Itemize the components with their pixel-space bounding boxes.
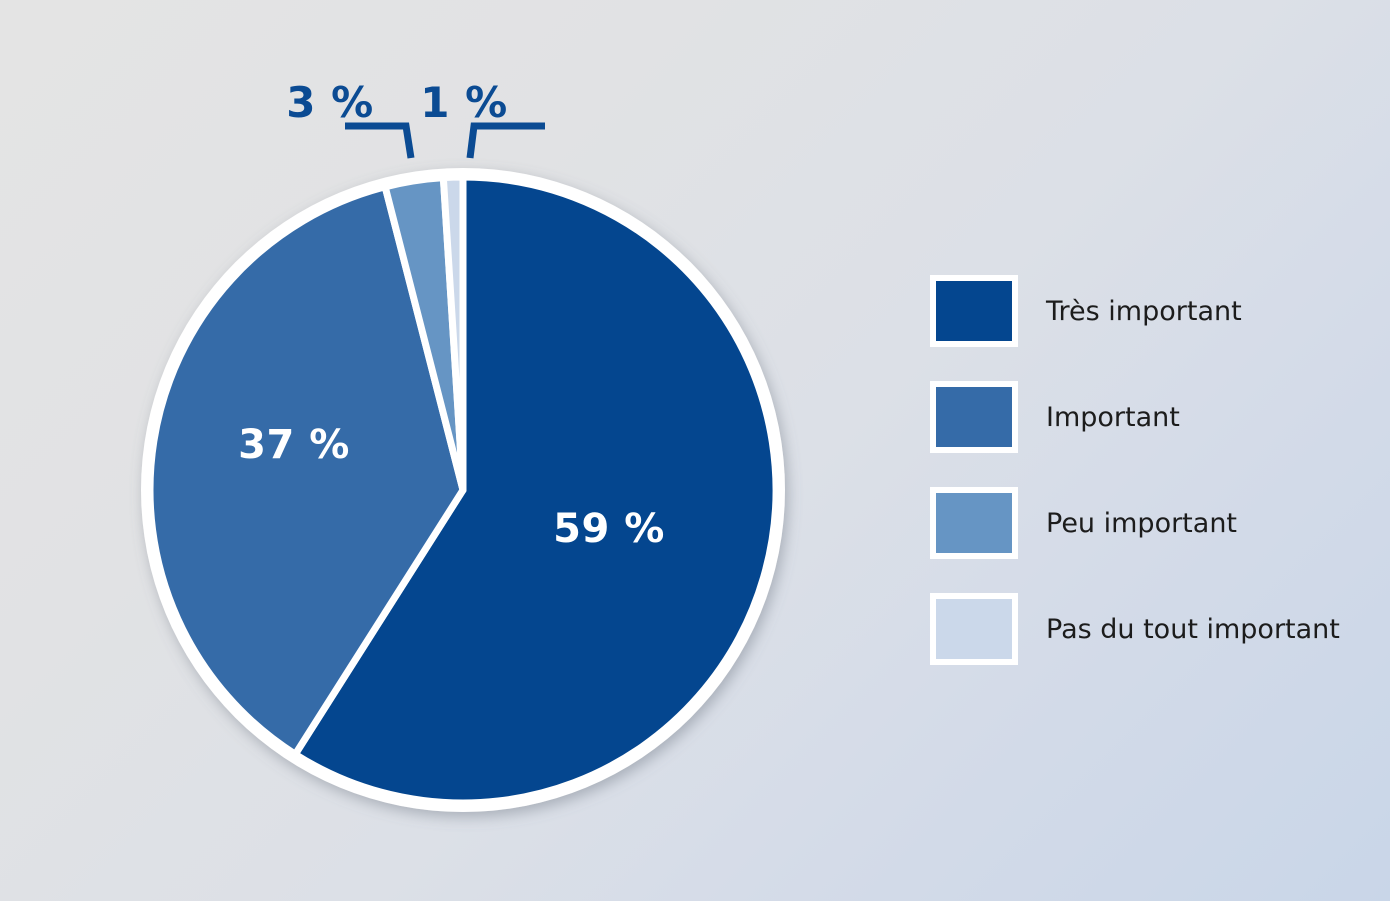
legend-item-label: Important — [1046, 404, 1180, 431]
legend-color-swatch — [936, 387, 1012, 447]
legend-color-swatch — [936, 599, 1012, 659]
pie-chart-figure: 59 %37 % 3 %1 % Très importantImportantP… — [0, 0, 1390, 901]
pie-slice-value-label: 37 % — [238, 422, 350, 468]
legend-item-4[interactable]: Pas du tout important — [930, 576, 1380, 682]
legend-item-label: Très important — [1046, 298, 1242, 325]
legend-item-label: Peu important — [1046, 510, 1237, 537]
callout-leader-line-pas-du-tout-important — [470, 126, 545, 158]
pie-callout-value-label: 1 % — [420, 78, 507, 127]
legend-color-swatch — [936, 493, 1012, 553]
legend-swatch-frame — [930, 593, 1018, 665]
pie-callouts-group: 3 %1 % — [286, 78, 545, 158]
legend-swatch-frame — [930, 381, 1018, 453]
legend-item-3[interactable]: Peu important — [930, 470, 1380, 576]
legend-color-swatch — [936, 281, 1012, 341]
callout-leader-line-peu-important — [345, 126, 411, 158]
legend-item-1[interactable]: Très important — [930, 258, 1380, 364]
legend-swatch-frame — [930, 487, 1018, 559]
pie-slices-group — [150, 177, 776, 803]
legend-item-label: Pas du tout important — [1046, 616, 1340, 643]
legend-swatch-frame — [930, 275, 1018, 347]
pie-slice-value-label: 59 % — [553, 506, 665, 552]
chart-legend: Très importantImportantPeu importantPas … — [930, 258, 1380, 682]
legend-item-2[interactable]: Important — [930, 364, 1380, 470]
pie-callout-value-label: 3 % — [286, 78, 373, 127]
